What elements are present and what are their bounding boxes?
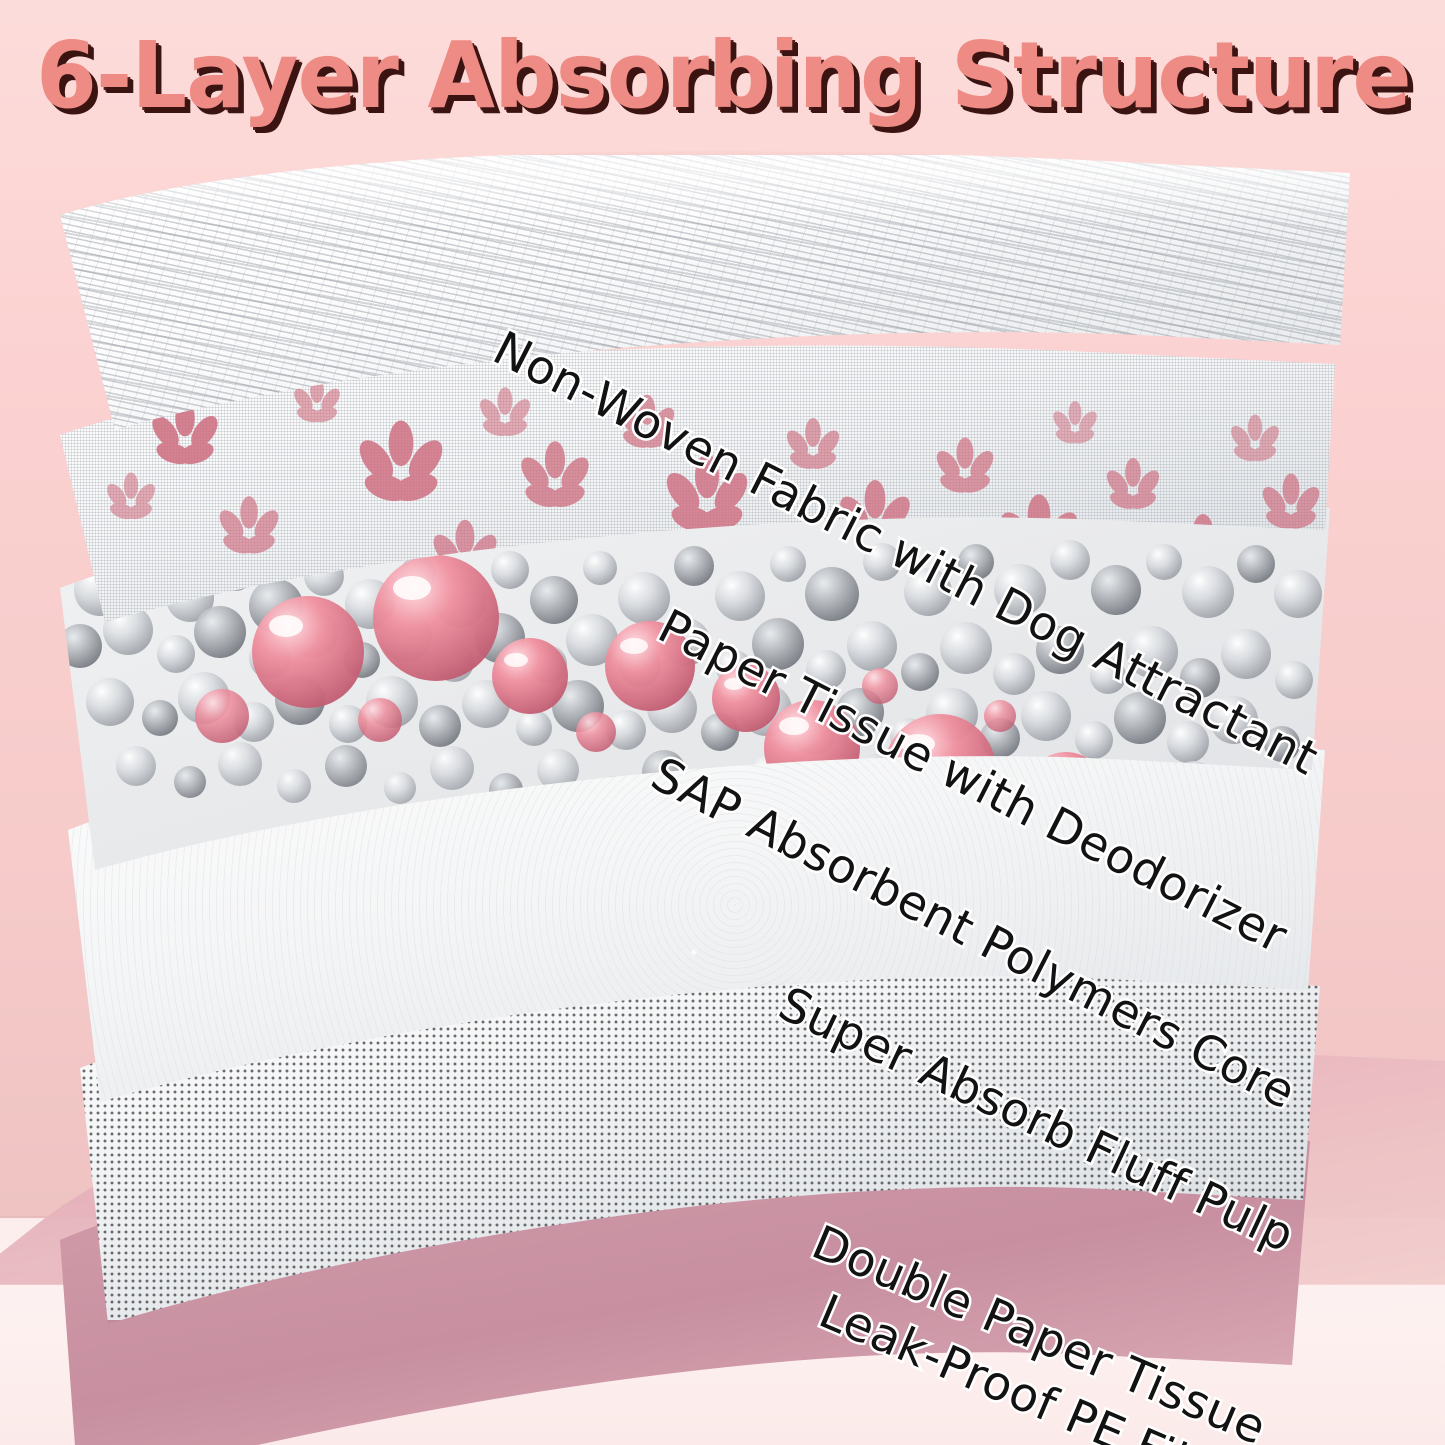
infographic-canvas: Non-Woven Fabric with Dog Attractant Pap…: [0, 0, 1445, 1445]
